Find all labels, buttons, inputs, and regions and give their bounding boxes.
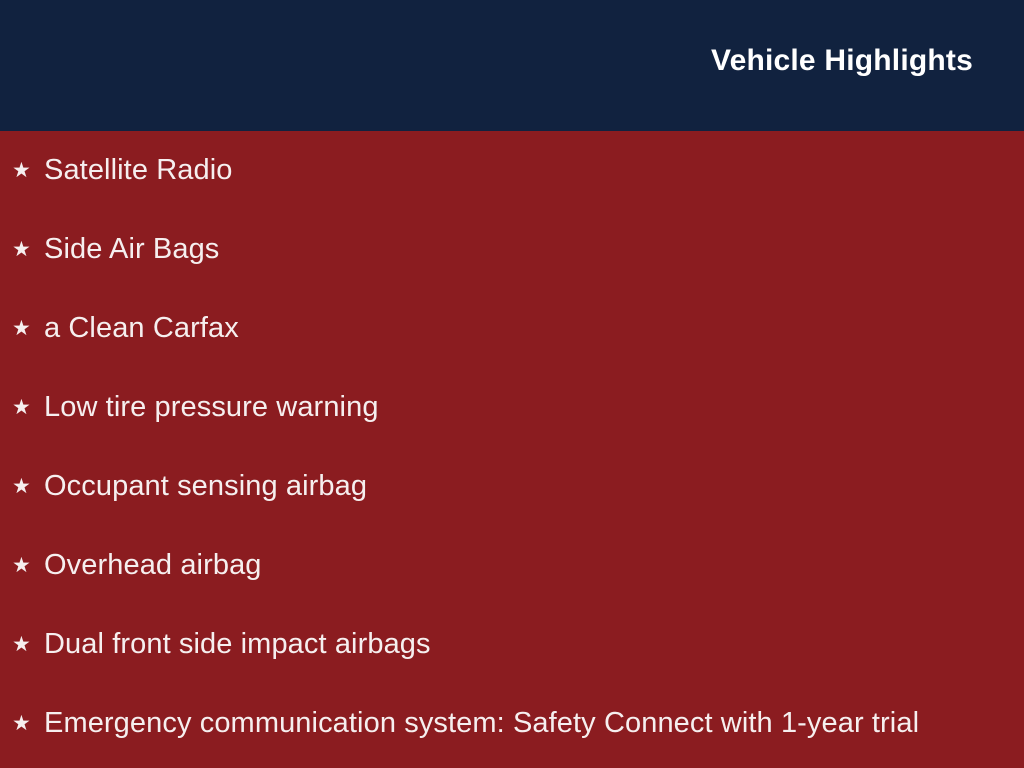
list-item: ★ a Clean Carfax bbox=[0, 289, 1024, 368]
list-item-label: Low tire pressure warning bbox=[44, 391, 379, 424]
list-item: ★ Low tire pressure warning bbox=[0, 368, 1024, 447]
star-bullet-icon: ★ bbox=[12, 239, 44, 260]
list-item-label: a Clean Carfax bbox=[44, 312, 239, 345]
list-item: ★ Side Air Bags bbox=[0, 210, 1024, 289]
list-item: ★ Satellite Radio bbox=[0, 131, 1024, 210]
star-bullet-icon: ★ bbox=[12, 160, 44, 181]
star-bullet-icon: ★ bbox=[12, 555, 44, 576]
slide-body: ★ Satellite Radio ★ Side Air Bags ★ a Cl… bbox=[0, 131, 1024, 768]
list-item-label: Emergency communication system: Safety C… bbox=[44, 707, 919, 740]
star-bullet-icon: ★ bbox=[12, 476, 44, 497]
star-bullet-icon: ★ bbox=[12, 318, 44, 339]
star-bullet-icon: ★ bbox=[12, 634, 44, 655]
list-item-label: Satellite Radio bbox=[44, 154, 233, 187]
slide-header-bar: Vehicle Highlights bbox=[0, 0, 1024, 131]
list-item: ★ Dual front side impact airbags bbox=[0, 605, 1024, 684]
vehicle-highlights-slide: Vehicle Highlights ★ Satellite Radio ★ S… bbox=[0, 0, 1024, 768]
list-item-label: Overhead airbag bbox=[44, 549, 262, 582]
list-item: ★ Emergency communication system: Safety… bbox=[0, 684, 1024, 763]
star-bullet-icon: ★ bbox=[12, 713, 44, 734]
star-bullet-icon: ★ bbox=[12, 397, 44, 418]
list-item-label: Occupant sensing airbag bbox=[44, 470, 367, 503]
page-title: Vehicle Highlights bbox=[711, 44, 973, 77]
list-item-label: Side Air Bags bbox=[44, 233, 219, 266]
list-item: ★ Overhead airbag bbox=[0, 526, 1024, 605]
list-item: ★ Occupant sensing airbag bbox=[0, 447, 1024, 526]
list-item-label: Dual front side impact airbags bbox=[44, 628, 431, 661]
highlights-list: ★ Satellite Radio ★ Side Air Bags ★ a Cl… bbox=[0, 131, 1024, 763]
